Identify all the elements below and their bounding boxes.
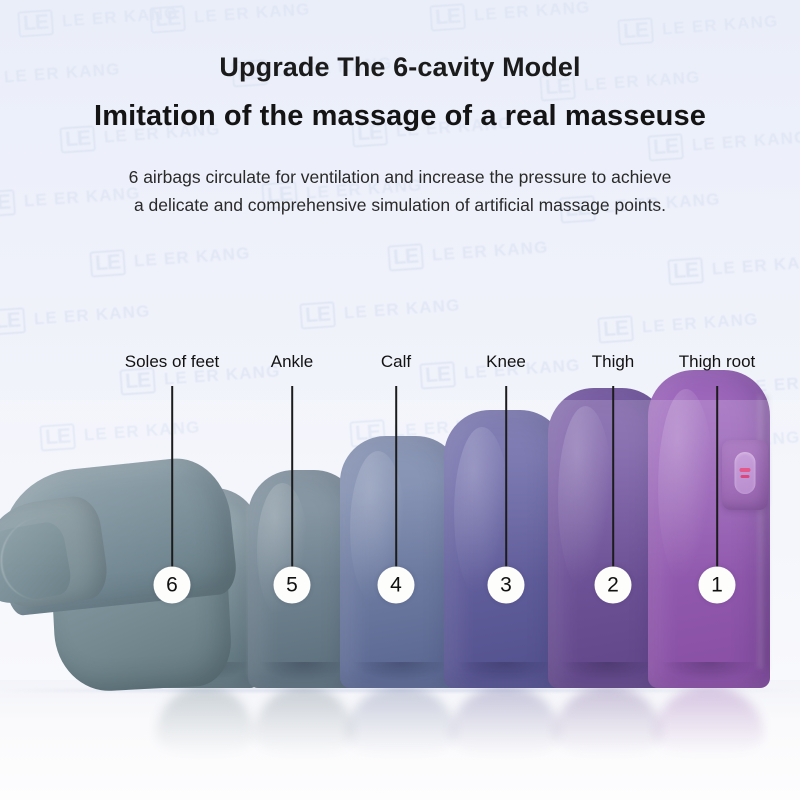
callout-label-5: Ankle: [271, 352, 314, 372]
callout-leader-line-3: [505, 386, 507, 568]
callout-leader-line-1: [716, 386, 718, 568]
callout-layer: Soles of feet6Ankle5Calf4Knee3Thigh2Thig…: [0, 0, 800, 800]
callout-leader-line-4: [395, 386, 397, 568]
callout-label-1: Thigh root: [679, 352, 756, 372]
callout-label-2: Thigh: [592, 352, 635, 372]
callout-leader-line-2: [612, 386, 614, 568]
callout-number-badge-5[interactable]: 5: [274, 567, 311, 604]
callout-number-badge-6[interactable]: 6: [154, 567, 191, 604]
callout-number-badge-3[interactable]: 3: [488, 567, 525, 604]
callout-number-badge-2[interactable]: 2: [595, 567, 632, 604]
callout-leader-line-6: [171, 386, 173, 568]
callout-label-6: Soles of feet: [125, 352, 220, 372]
callout-number-badge-1[interactable]: 1: [699, 567, 736, 604]
callout-label-4: Calf: [381, 352, 411, 372]
infographic-canvas: LELE ER KANGLELE ER KANGLELE ER KANGLELE…: [0, 0, 800, 800]
callout-label-3: Knee: [486, 352, 526, 372]
callout-number-badge-4[interactable]: 4: [378, 567, 415, 604]
callout-leader-line-5: [291, 386, 293, 568]
